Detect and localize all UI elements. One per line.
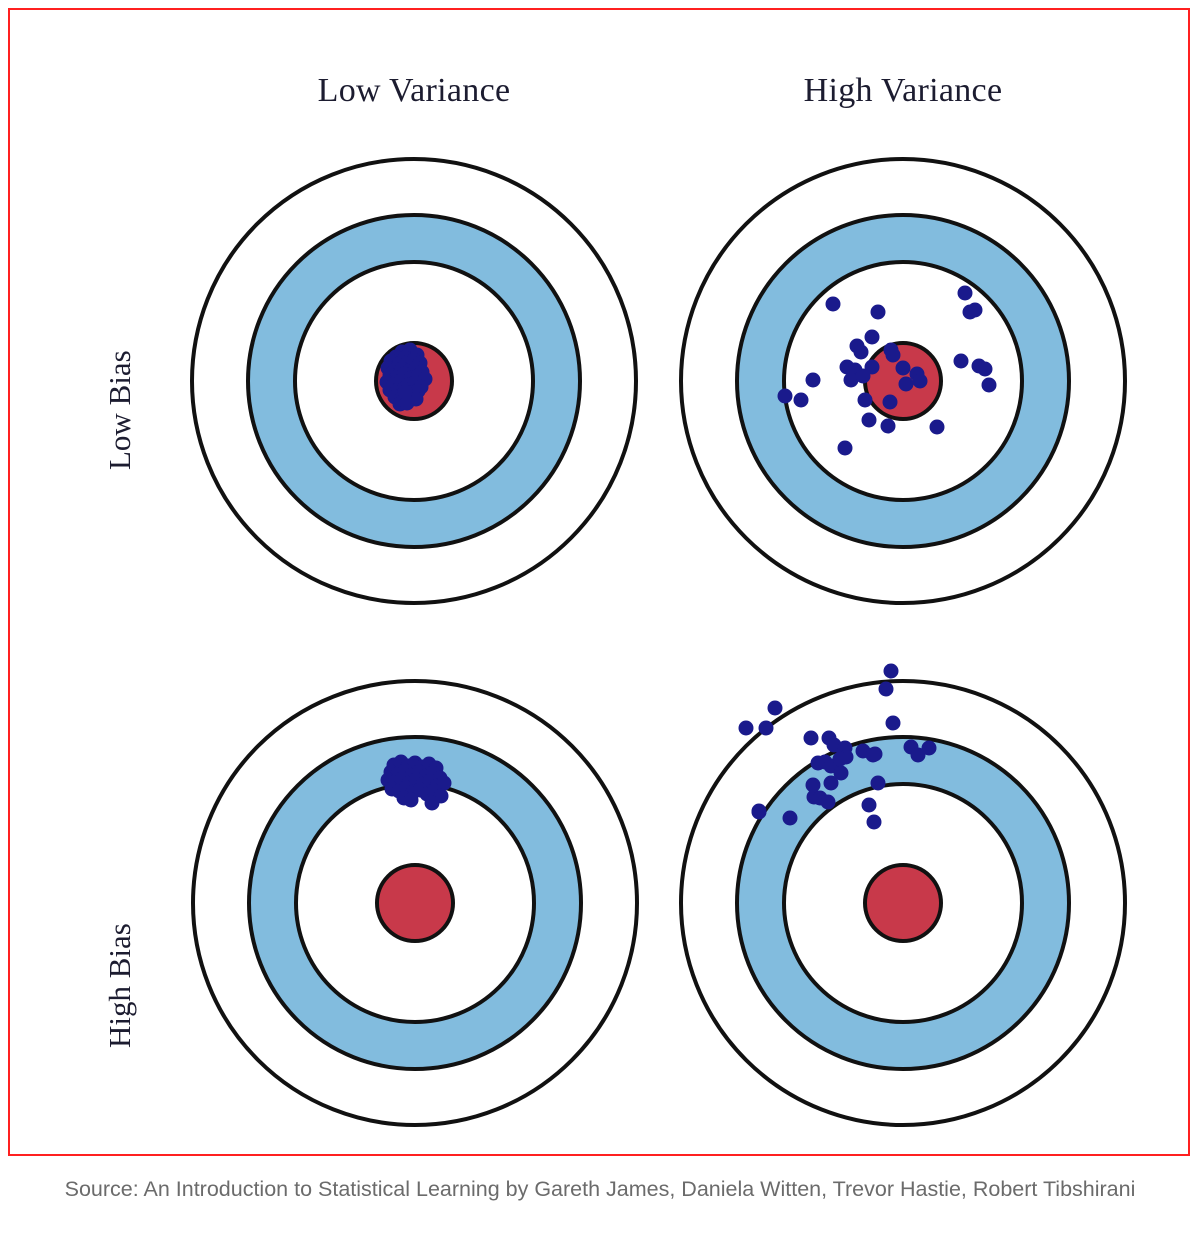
column-heading-low-variance: Low Variance [214, 72, 614, 110]
row-heading-high-bias: High Bias [102, 923, 138, 1048]
figure-frame [8, 8, 1190, 1156]
figure-source-caption: Source: An Introduction to Statistical L… [40, 1172, 1160, 1206]
column-heading-high-variance: High Variance [703, 72, 1103, 110]
figure-root: Low Variance High Variance Low Bias High… [0, 0, 1200, 1250]
row-heading-low-bias: Low Bias [102, 350, 138, 470]
